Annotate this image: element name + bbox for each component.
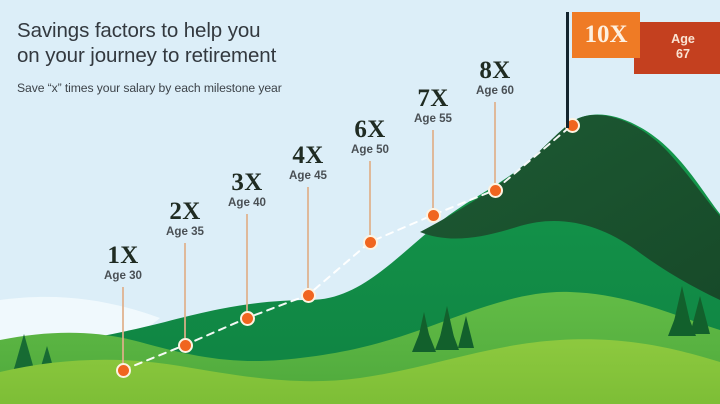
milestone-multiplier: 6X [351, 117, 389, 142]
page-title: Savings factors to help you on your jour… [17, 18, 417, 68]
milestone-dot-40 [240, 311, 255, 326]
milestone-multiplier: 2X [166, 199, 204, 224]
milestone-label-45: 4XAge 45 [289, 143, 327, 183]
flag-age-label: Age [671, 32, 695, 46]
milestone-multiplier: 7X [414, 86, 452, 111]
page-subtitle: Save “x” times your salary by each miles… [17, 81, 282, 95]
milestone-age: Age 35 [166, 225, 204, 239]
title-line-1: Savings factors to help you [17, 18, 417, 43]
milestone-age: Age 55 [414, 112, 452, 126]
milestone-multiplier: 8X [476, 58, 514, 83]
milestone-age: Age 60 [476, 84, 514, 98]
milestone-dot-55 [426, 208, 441, 223]
milestone-age: Age 45 [289, 169, 327, 183]
savings-factors-infographic: Savings factors to help you on your jour… [0, 0, 720, 404]
flag-multiplier: 10X [572, 12, 640, 58]
milestone-dot-30 [116, 363, 131, 378]
flag-age-value: 67 [676, 47, 690, 61]
milestone-label-55: 7XAge 55 [414, 86, 452, 126]
flagpole [566, 12, 569, 128]
milestone-multiplier: 1X [104, 243, 142, 268]
milestone-label-60: 8XAge 60 [476, 58, 514, 98]
milestone-dot-60 [488, 183, 503, 198]
milestone-label-50: 6XAge 50 [351, 117, 389, 157]
milestone-label-40: 3XAge 40 [228, 170, 266, 210]
milestone-age: Age 50 [351, 143, 389, 157]
milestone-dot-45 [301, 288, 316, 303]
milestone-dot-35 [178, 338, 193, 353]
milestone-label-30: 1XAge 30 [104, 243, 142, 283]
milestone-dot-50 [363, 235, 378, 250]
milestone-label-35: 2XAge 35 [166, 199, 204, 239]
flag-age-ribbon: Age 67 [634, 22, 720, 74]
milestone-age: Age 40 [228, 196, 266, 210]
milestone-multiplier: 3X [228, 170, 266, 195]
milestone-multiplier: 4X [289, 143, 327, 168]
title-line-2: on your journey to retirement [17, 43, 417, 68]
milestone-age: Age 30 [104, 269, 142, 283]
